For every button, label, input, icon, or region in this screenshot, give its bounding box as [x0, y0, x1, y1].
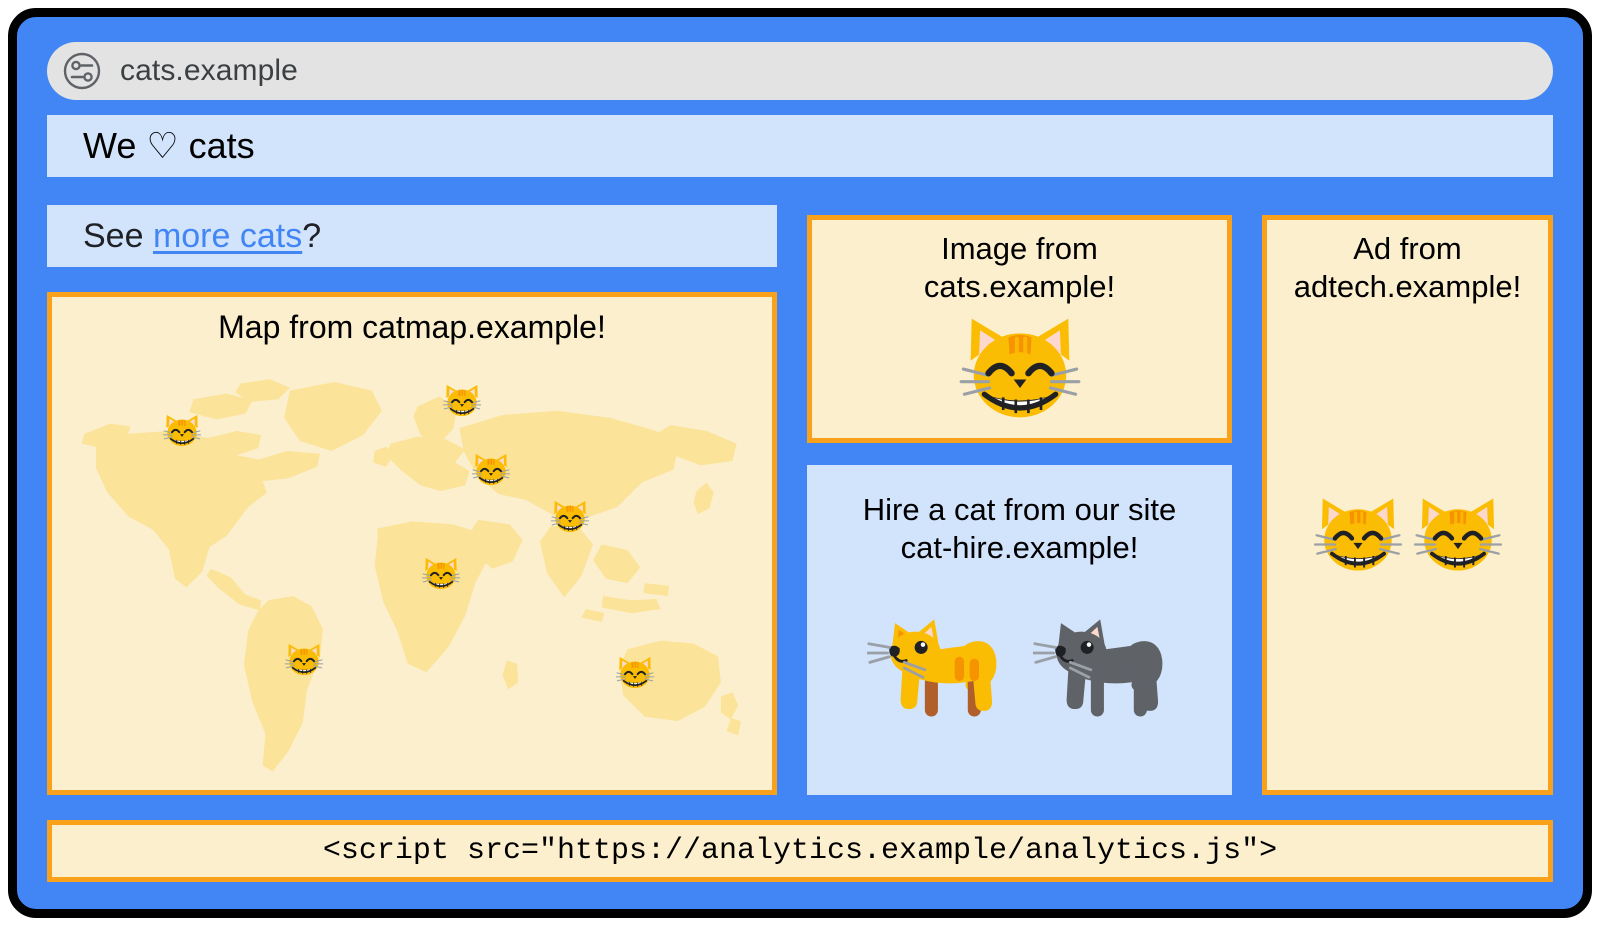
- hire-panel-title: Hire a cat from our site cat-hire.exampl…: [863, 491, 1177, 567]
- ad-panel-title: Ad from adtech.example!: [1294, 230, 1521, 306]
- address-bar[interactable]: cats.example: [47, 42, 1553, 100]
- world-map[interactable]: [52, 359, 772, 790]
- more-cats-panel: See more cats?: [47, 205, 777, 267]
- heart-outline-icon: ♡: [146, 125, 178, 166]
- image-panel-title-line1: Image from: [941, 231, 1098, 266]
- map-marker-australia[interactable]: [615, 654, 655, 694]
- map-panel-title: Map from catmap.example!: [52, 309, 772, 346]
- link-suffix: ?: [302, 217, 321, 255]
- ad-panel-title-line1: Ad from: [1353, 231, 1462, 266]
- tune-sliders-icon[interactable]: [60, 49, 104, 93]
- map-marker-africa[interactable]: [421, 555, 461, 595]
- link-line: See more cats?: [83, 217, 321, 256]
- ad-panel-title-line2: adtech.example!: [1294, 269, 1521, 304]
- image-panel-title-line2: cats.example!: [924, 269, 1115, 304]
- headline-prefix: We: [83, 125, 146, 166]
- hire-panel-title-line1: Hire a cat from our site: [863, 492, 1177, 527]
- browser-window: cats.example We ♡ cats See more cats? Ma…: [8, 8, 1592, 918]
- map-marker-west-asia[interactable]: [550, 498, 590, 538]
- analytics-script-panel: <script src="https://analytics.example/a…: [47, 820, 1553, 882]
- headline-text: We ♡ cats: [83, 125, 255, 167]
- map-marker-north-america[interactable]: [162, 412, 202, 452]
- more-cats-link[interactable]: more cats: [153, 217, 302, 255]
- map-marker-northern-europe[interactable]: [442, 382, 482, 422]
- link-prefix: See: [83, 217, 153, 255]
- ad-cat-icons: [1267, 492, 1548, 582]
- hire-cat-illustrations: [867, 595, 1173, 731]
- headline-suffix: cats: [179, 125, 255, 166]
- headline-panel: We ♡ cats: [47, 115, 1553, 177]
- grinning-cat-face-icon: [1412, 492, 1504, 582]
- grinning-cat-face-icon: [1312, 492, 1404, 582]
- script-tag-code: <script src="https://analytics.example/a…: [323, 834, 1277, 868]
- hire-panel-title-line2: cat-hire.example!: [901, 530, 1139, 565]
- url-text: cats.example: [120, 54, 298, 88]
- world-map-landmasses: [52, 359, 772, 790]
- image-panel[interactable]: Image from cats.example!: [807, 215, 1232, 443]
- gray-cat-body-icon: [1033, 595, 1173, 731]
- map-marker-central-europe[interactable]: [471, 451, 511, 491]
- map-panel[interactable]: Map from catmap.example!: [47, 292, 777, 795]
- hire-panel[interactable]: Hire a cat from our site cat-hire.exampl…: [807, 465, 1232, 795]
- image-panel-title: Image from cats.example!: [924, 230, 1115, 306]
- grinning-cat-face-icon: [957, 310, 1083, 431]
- map-marker-south-america[interactable]: [284, 641, 324, 681]
- orange-cat-body-icon: [867, 595, 1007, 731]
- ad-panel[interactable]: Ad from adtech.example!: [1262, 215, 1553, 795]
